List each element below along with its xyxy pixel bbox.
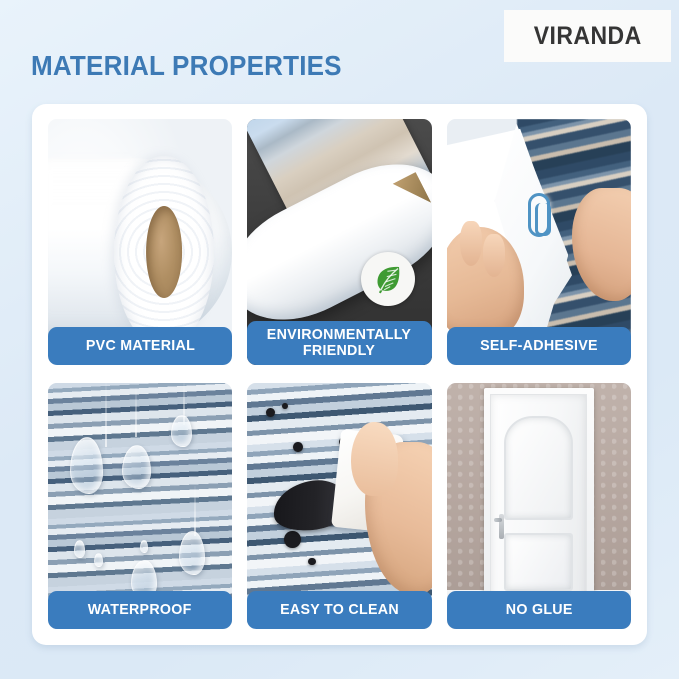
water-droplet [140,540,147,552]
feature-card-environmentally-friendly[interactable]: ENVIRONMENTALLY FRIENDLY [247,119,431,365]
door [490,394,587,604]
brand-logo-badge: VIRANDA [504,10,671,62]
leaf-badge [361,252,415,306]
feature-label-pvc-material: PVC MATERIAL [48,327,232,365]
page-header: VIRANDA MATERIAL PROPERTIES [0,0,679,105]
water-droplet [94,553,103,568]
paperclip-icon [528,193,550,237]
feature-card-pvc-material[interactable]: PVC MATERIAL [48,119,232,365]
feature-card-self-adhesive[interactable]: SELF-ADHESIVE [447,119,631,365]
ink-spot [284,531,301,548]
page-title: MATERIAL PROPERTIES [31,50,342,82]
feature-grid: PVC MATERIAL EN [48,119,631,629]
feature-label-self-adhesive: SELF-ADHESIVE [447,327,631,365]
leaf-icon [371,262,405,296]
water-droplet [171,415,191,447]
brand-logo-text: VIRANDA [533,22,641,51]
feature-label-no-glue: NO GLUE [447,591,631,629]
ink-spot [282,403,288,409]
feature-panel: PVC MATERIAL EN [32,104,647,645]
feature-card-waterproof[interactable]: WATERPROOF [48,383,232,629]
feature-card-no-glue[interactable]: NO GLUE [447,383,631,629]
door-handle-icon [499,514,504,539]
feature-card-easy-to-clean[interactable]: EASY TO CLEAN [247,383,431,629]
feature-label-waterproof: WATERPROOF [48,591,232,629]
water-droplet [179,531,205,575]
thumb [351,422,399,496]
feature-label-environmentally-friendly: ENVIRONMENTALLY FRIENDLY [247,321,431,365]
cardboard-core [146,206,182,298]
feature-label-easy-to-clean: EASY TO CLEAN [247,591,431,629]
water-droplet [74,540,85,557]
ink-spot [293,442,302,452]
ink-spot [308,558,315,565]
door-frame [484,388,595,604]
